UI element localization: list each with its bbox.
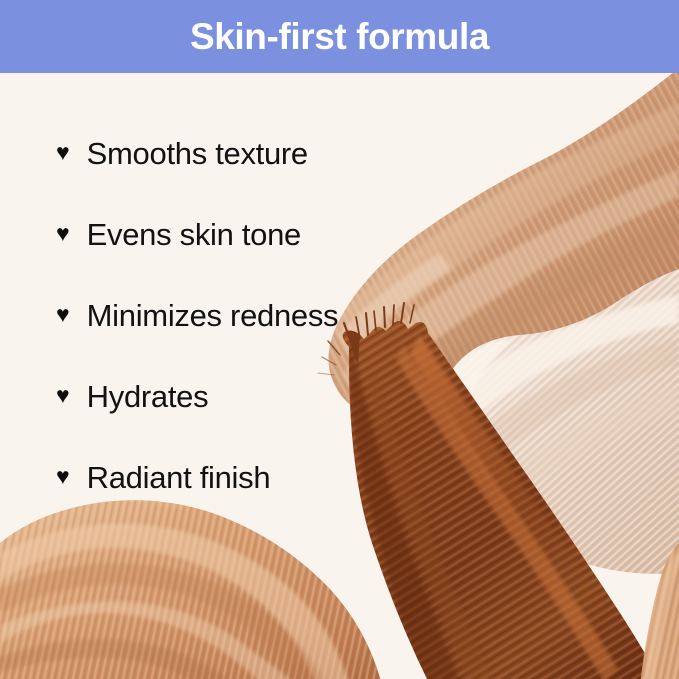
- benefit-label: Evens skin tone: [87, 219, 301, 250]
- benefit-item-smooths-texture: ♥ Smooths texture: [0, 113, 420, 194]
- heart-icon: ♥: [56, 384, 70, 407]
- heart-icon: ♥: [56, 141, 70, 164]
- header-band: Skin-first formula: [0, 0, 679, 73]
- benefit-label: Radiant finish: [87, 462, 271, 493]
- benefit-item-evens-skin-tone: ♥ Evens skin tone: [0, 194, 420, 275]
- benefit-label: Minimizes redness: [87, 300, 339, 331]
- heart-icon: ♥: [56, 303, 70, 326]
- product-benefits-card: Skin-first formula ♥ Smooths texture ♥ E…: [0, 0, 679, 679]
- heart-icon: ♥: [56, 465, 70, 488]
- benefit-item-hydrates: ♥ Hydrates: [0, 356, 420, 437]
- page-title: Skin-first formula: [190, 18, 489, 55]
- heart-icon: ♥: [56, 222, 70, 245]
- benefit-item-radiant-finish: ♥ Radiant finish: [0, 437, 420, 518]
- benefit-label: Smooths texture: [87, 138, 308, 169]
- benefit-item-minimizes-redness: ♥ Minimizes redness: [0, 275, 420, 356]
- benefits-list: ♥ Smooths texture ♥ Evens skin tone ♥ Mi…: [0, 73, 420, 518]
- benefit-label: Hydrates: [87, 381, 209, 412]
